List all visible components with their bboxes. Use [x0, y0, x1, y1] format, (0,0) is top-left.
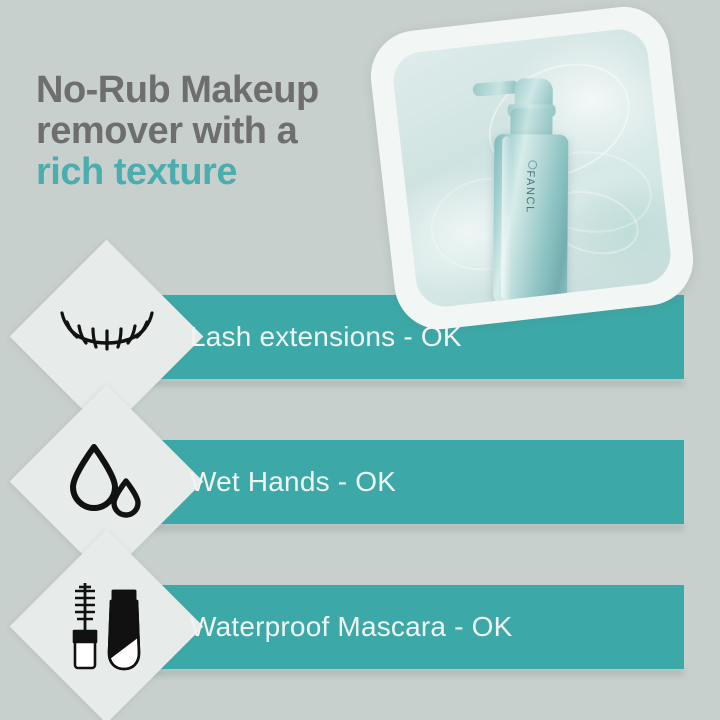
headline-line-1: No-Rub Makeup: [36, 70, 396, 111]
bottle-logo-mark-icon: [528, 160, 537, 169]
bottle-highlight: [501, 136, 512, 300]
bottle-brand-label: FANCL: [524, 170, 536, 214]
banner-shadow: [112, 669, 684, 676]
feature-label: Lash extensions - OK: [190, 295, 462, 379]
product-feature-poster: No-Rub Makeup remover with a rich textur…: [0, 0, 720, 720]
page-title: No-Rub Makeup remover with a rich textur…: [36, 70, 396, 193]
photo-water-background: FANCL: [390, 26, 673, 309]
feature-label: Wet Hands - OK: [190, 440, 396, 524]
feature-row[interactable]: Wet Hands - OK: [0, 412, 720, 552]
headline-line-2: remover with a: [36, 111, 396, 152]
feature-label: Waterproof Mascara - OK: [190, 585, 513, 669]
mascara-icon: [38, 558, 175, 695]
banner-shadow: [112, 379, 684, 386]
eyelash-icon: [38, 268, 175, 405]
banner-shadow: [112, 524, 684, 531]
headline-line-3-accent: rich texture: [36, 152, 396, 193]
bottle-pump-nozzle: [473, 80, 518, 96]
product-photo: FANCL: [366, 2, 698, 334]
feature-row[interactable]: Waterproof Mascara - OK: [0, 557, 720, 697]
product-bottle: FANCL: [493, 70, 569, 307]
water-droplets-icon: [38, 413, 175, 550]
